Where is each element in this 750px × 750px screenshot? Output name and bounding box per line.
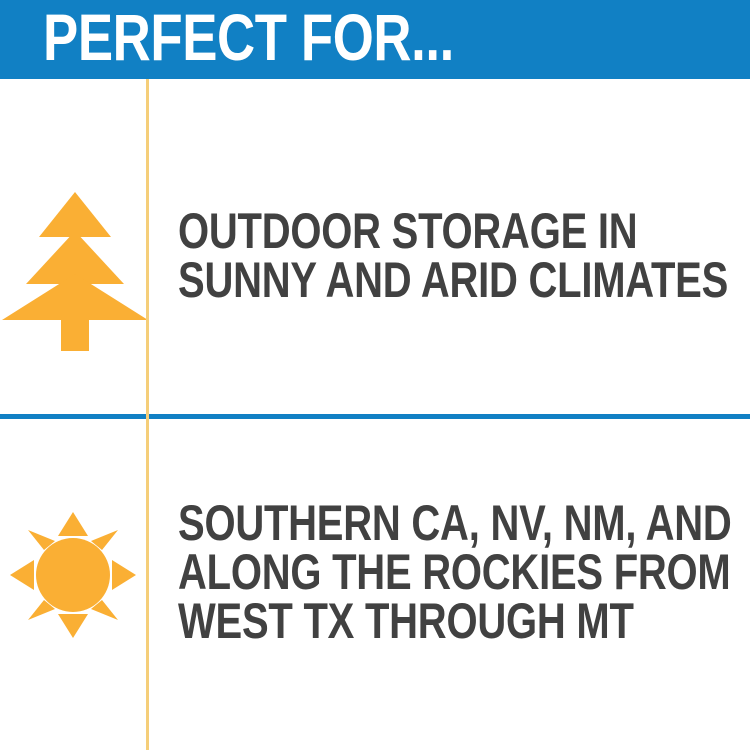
list-item: SOUTHERN CA, NV, NM, AND ALONG THE ROCKI… [0,419,750,750]
row-text-outdoor-storage: OUTDOOR STORAGE IN SUNNY AND ARID CLIMAT… [178,207,728,305]
row-icon-regions [0,419,146,750]
pine-tree-icon [0,79,146,414]
row-text-regions: SOUTHERN CA, NV, NM, AND ALONG THE ROCKI… [178,499,732,646]
text-line: SOUTHERN CA, NV, NM, AND [178,499,732,548]
row-icon-outdoor-storage [0,79,146,414]
section-divider-horizontal [0,414,750,419]
list-item: OUTDOOR STORAGE IN SUNNY AND ARID CLIMAT… [0,79,750,414]
header-bar: PERFECT FOR... [0,0,750,79]
perfect-for-infographic: PERFECT FOR... OUTDOOR STORAGE IN SUNNY … [0,0,750,750]
text-line: SUNNY AND ARID CLIMATES [178,256,728,305]
text-line: OUTDOOR STORAGE IN [178,207,728,256]
sun-icon [0,419,146,750]
page-title: PERFECT FOR... [43,2,454,72]
column-divider-vertical [146,79,149,750]
text-line: ALONG THE ROCKIES FROM [178,548,732,597]
text-line: WEST TX THROUGH MT [178,597,732,646]
